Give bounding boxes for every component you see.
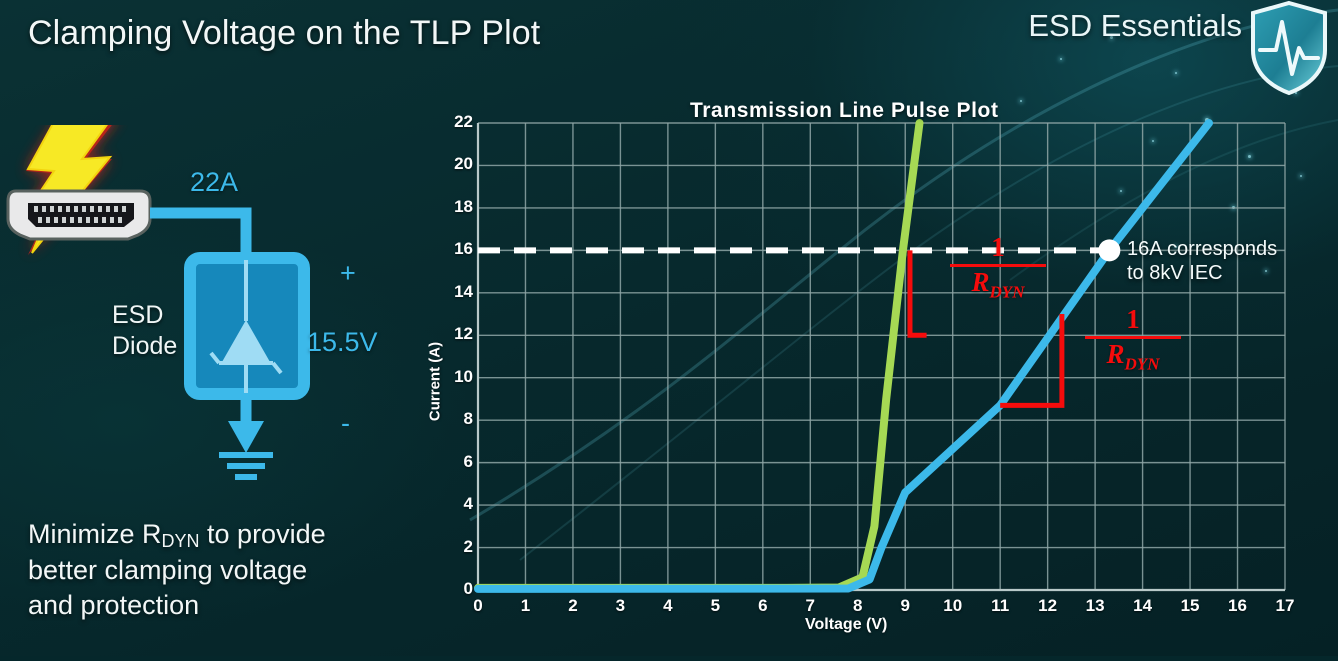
x-tick-label: 4 xyxy=(648,596,688,616)
slope-denominator-2-sub: DYN xyxy=(1125,354,1160,373)
marker-annotation: 16A corresponds to 8kV IEC xyxy=(1127,238,1337,285)
y-tick-label: 14 xyxy=(427,282,473,302)
x-tick-label: 16 xyxy=(1218,596,1258,616)
slope-label-low-rdyn: 1 RDYN xyxy=(950,234,1046,301)
x-tick-label: 8 xyxy=(838,596,878,616)
y-tick-label: 16 xyxy=(427,239,473,259)
slope-numerator-2: 1 xyxy=(1085,306,1181,333)
x-tick-label: 1 xyxy=(505,596,545,616)
x-tick-label: 10 xyxy=(933,596,973,616)
slope-denominator-2-base: R xyxy=(1107,339,1125,369)
slope-numerator-1: 1 xyxy=(950,234,1046,261)
series-line xyxy=(478,123,920,588)
x-tick-label: 3 xyxy=(600,596,640,616)
fraction-bar-1 xyxy=(950,264,1046,267)
slope-denominator-1-sub: DYN xyxy=(990,282,1025,301)
slope-denominator-1: RDYN xyxy=(950,268,1046,301)
slope-label-high-rdyn: 1 RDYN xyxy=(1085,306,1181,373)
x-tick-label: 11 xyxy=(980,596,1020,616)
y-tick-label: 22 xyxy=(427,112,473,132)
caption-line-2: better clamping voltage xyxy=(28,553,428,588)
x-tick-label: 0 xyxy=(458,596,498,616)
y-tick-label: 6 xyxy=(427,452,473,472)
x-tick-label: 12 xyxy=(1028,596,1068,616)
slide-background: Clamping Voltage on the TLP Plot ESD Ess… xyxy=(0,0,1338,656)
y-tick-label: 2 xyxy=(427,537,473,557)
y-tick-label: 8 xyxy=(427,409,473,429)
caption-line1-sub: DYN xyxy=(162,531,200,551)
slope-denominator-1-base: R xyxy=(972,267,990,297)
chart-y-tick-labels: 0246810121416182022 xyxy=(405,88,473,608)
ground-symbol-icon xyxy=(219,455,273,477)
chart-title: Transmission Line Pulse Plot xyxy=(690,99,999,123)
x-tick-label: 6 xyxy=(743,596,783,616)
x-tick-label: 2 xyxy=(553,596,593,616)
current-arrow-icon xyxy=(228,421,264,453)
caption-line1-post: to provide xyxy=(200,519,326,549)
y-tick-label: 18 xyxy=(427,197,473,217)
x-tick-label: 5 xyxy=(695,596,735,616)
y-tick-label: 12 xyxy=(427,324,473,344)
x-tick-label: 17 xyxy=(1265,596,1305,616)
y-tick-label: 20 xyxy=(427,154,473,174)
esd-diode-label-line1: ESD xyxy=(112,300,222,331)
shield-pulse-icon xyxy=(1246,0,1332,96)
polarity-minus-label: - xyxy=(341,408,350,439)
x-tick-label: 15 xyxy=(1170,596,1210,616)
current-label: 22A xyxy=(190,167,238,198)
fraction-bar-2 xyxy=(1085,336,1181,339)
esd-diode-label: ESD Diode xyxy=(112,300,222,361)
caption-line1-pre: Minimize R xyxy=(28,519,162,549)
x-tick-label: 7 xyxy=(790,596,830,616)
y-tick-label: 10 xyxy=(427,367,473,387)
caption-line-1: Minimize RDYN to provide xyxy=(28,517,428,553)
polarity-plus-label: + xyxy=(340,258,356,289)
data-point-marker xyxy=(1098,239,1120,261)
caption-text: Minimize RDYN to provide better clamping… xyxy=(28,517,428,622)
tlp-chart: Transmission Line Pulse Plot Current (A)… xyxy=(405,88,1338,656)
x-tick-label: 13 xyxy=(1075,596,1115,616)
esd-diode-label-line2: Diode xyxy=(112,331,222,362)
x-tick-label: 9 xyxy=(885,596,925,616)
page-title: Clamping Voltage on the TLP Plot xyxy=(28,14,540,53)
slope-denominator-2: RDYN xyxy=(1085,340,1181,373)
marker-annotation-line2: to 8kV IEC xyxy=(1127,262,1337,286)
clamping-voltage-label: 15.5V xyxy=(307,327,378,358)
chart-x-tick-labels: 01234567891011121314151617 xyxy=(405,596,1338,622)
hdmi-connector-icon xyxy=(8,191,150,239)
caption-line-3: and protection xyxy=(28,588,428,623)
marker-annotation-line1: 16A corresponds xyxy=(1127,238,1337,262)
y-tick-label: 4 xyxy=(427,494,473,514)
chart-plot-area xyxy=(405,88,1338,656)
x-tick-label: 14 xyxy=(1123,596,1163,616)
brand-label: ESD Essentials xyxy=(1028,8,1242,44)
